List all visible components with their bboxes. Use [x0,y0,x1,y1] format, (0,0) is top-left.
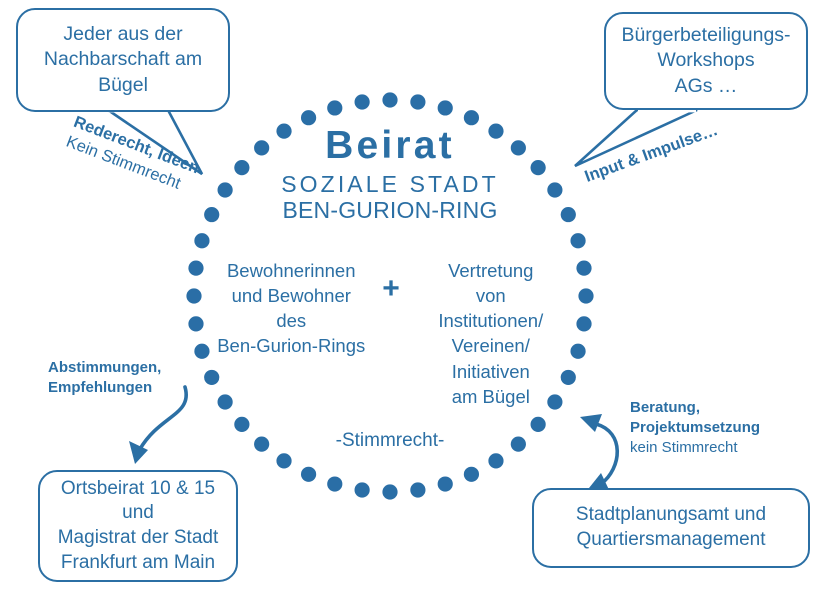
box-stadtplanung: Stadtplanungsamt und Quartiersmanagement [532,488,810,568]
arrow-abstimmungen-head [129,441,148,464]
ring-dot [204,207,219,222]
box-ortsbeirat-line: und [48,501,228,526]
composition-right-line: von [476,285,506,306]
ring-dot [188,316,203,331]
composition-right-line: Vertretung [448,260,533,281]
composition-left-line: und Bewohner [232,285,351,306]
ring-footnote: -Stimmrecht- [250,430,530,452]
composition-left-line: des [276,310,306,331]
ring-dot [194,233,209,248]
ring-dot [186,288,201,303]
bubble-neighbourhood-line: Nachbarschaft am [26,47,220,72]
label-beratung-strong: Projektumsetzung [630,418,760,438]
bubble-neighbourhood-line: Bügel [26,73,220,98]
ring-dot [382,92,397,107]
label-abstimmungen-line: Empfehlungen [48,378,161,398]
composition-left-column: Bewohnerinnen und Bewohner des Ben-Gurio… [207,258,375,359]
composition-right-line: am Bügel [452,386,530,407]
composition-left-line: Ben-Gurion-Rings [217,335,365,356]
ring-dot [188,261,203,276]
ring-dot [531,417,546,432]
bubble-participation: Bürgerbeteiligungs- Workshops AGs … [604,12,808,110]
composition-right-column: Vertretung von Institutionen/ Vereinen/ … [407,258,575,409]
composition-right-line: Vereinen/ [452,335,530,356]
ring-title: Beirat [235,126,545,166]
ring-dot [234,417,249,432]
ring-subtitle-2: BEN-GURION-RING [235,197,545,224]
plus-icon: + [375,258,407,304]
composition-right-line: Institutionen/ [438,310,543,331]
label-abstimmungen-line: Abstimmungen, [48,358,161,378]
ring-dot [561,207,576,222]
ring-subtitle-1: SOZIALE STADT [235,172,545,197]
label-beratung-light: kein Stimmrecht [630,438,760,458]
composition-left-line: Bewohnerinnen [227,260,356,281]
ring-dot [327,100,342,115]
arrow-beratung-head-up [580,414,602,432]
box-ortsbeirat-line: Magistrat der Stadt [48,526,228,551]
ring-dot [301,467,316,482]
bubble-participation-line: Workshops [614,48,798,73]
ring-dot [464,110,479,125]
bubble-participation-line: Bürgerbeteiligungs- [614,23,798,48]
label-input-strong: Input & Impulse… [582,120,721,188]
ring-dot [327,476,342,491]
ring-composition: Bewohnerinnen und Bewohner des Ben-Gurio… [206,258,576,409]
box-stadtplanung-line: Quartiersmanagement [542,528,800,553]
ring-dot [578,288,593,303]
ring-dot [410,482,425,497]
ring-dot [276,453,291,468]
label-input: Input & Impulse… [582,120,721,188]
arrow-beratung [596,424,617,484]
box-ortsbeirat: Ortsbeirat 10 & 15 und Magistrat der Sta… [38,470,238,582]
ring-dot [488,453,503,468]
bubble-participation-line: AGs … [614,74,798,99]
ring-dot [355,482,370,497]
ring-dot [355,94,370,109]
ring-dot [382,484,397,499]
ring-dot [410,94,425,109]
ring-dot [218,182,233,197]
label-rederecht: Rederecht, Ideen Kein Stimmrecht [63,112,203,200]
label-abstimmungen: Abstimmungen, Empfehlungen [48,358,161,398]
ring-dot [570,233,585,248]
ring-dot [438,476,453,491]
ring-title-block: Beirat SOZIALE STADT BEN-GURION-RING [235,126,545,223]
diagram-canvas: Beirat SOZIALE STADT BEN-GURION-RING Bew… [0,0,820,600]
ring-dot [547,182,562,197]
box-ortsbeirat-line: Ortsbeirat 10 & 15 [48,477,228,502]
ring-dot [464,467,479,482]
bubble-neighbourhood: Jeder aus der Nachbarschaft am Bügel [16,8,230,112]
box-ortsbeirat-line: Frankfurt am Main [48,551,228,576]
ring-dot [576,316,591,331]
box-stadtplanung-line: Stadtplanungsamt und [542,503,800,528]
ring-dot [438,100,453,115]
label-beratung-strong: Beratung, [630,398,760,418]
ring-dot [301,110,316,125]
composition-right-line: Initiativen [452,361,530,382]
ring-dot [576,261,591,276]
label-beratung: Beratung, Projektumsetzung kein Stimmrec… [630,398,760,457]
bubble-neighbourhood-line: Jeder aus der [26,22,220,47]
